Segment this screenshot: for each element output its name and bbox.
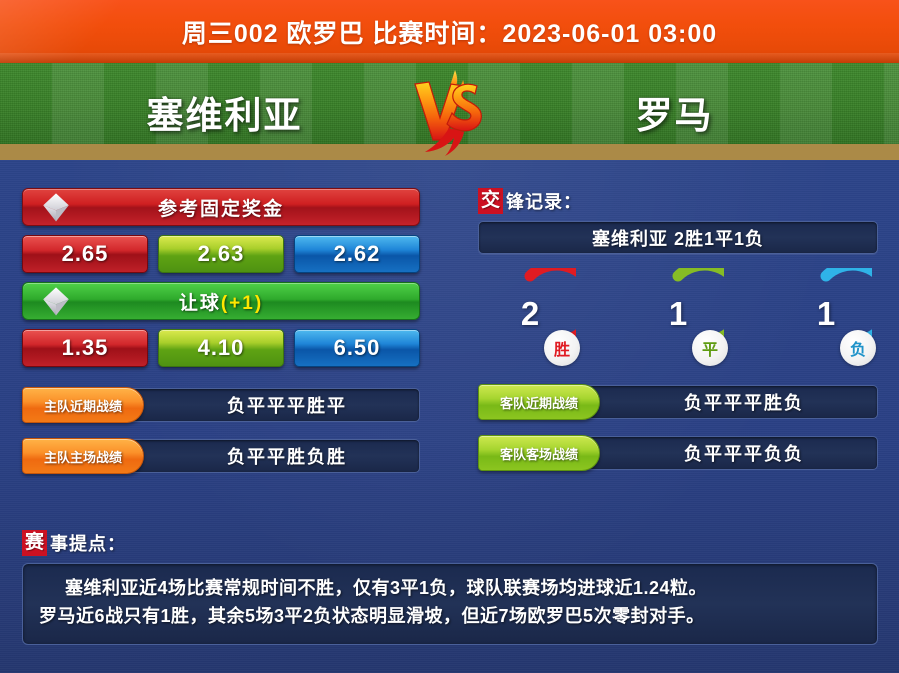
h2h-ring-win-badge: 胜 <box>544 330 580 366</box>
h2h-ring-loss-badge: 负 <box>840 330 876 366</box>
home-recent-form-value: 负平平平胜平 <box>227 392 347 418</box>
away-form-group: 客队近期战绩 负平平平胜负 客队客场战绩 负平平平负负 <box>478 384 878 471</box>
home-recent-form-track: 负平平平胜平 <box>130 388 420 422</box>
handicap-title-accent: (+1) <box>221 293 263 314</box>
away-recent-form-tab: 客队近期战绩 <box>478 384 600 420</box>
h2h-summary-bar: 塞维利亚 2胜1平1负 <box>478 221 878 254</box>
away-recent-form-value: 负平平平胜负 <box>684 389 804 415</box>
away-away-form-track: 负平平平负负 <box>586 436 878 470</box>
home-team-name: 塞维利亚 <box>60 85 390 139</box>
away-recent-form-row: 客队近期战绩 负平平平胜负 <box>478 384 878 420</box>
tips-section: 赛 事提点： 塞维利亚近4场比赛常规时间不胜，仅有3平1负，球队联赛场均进球近1… <box>22 530 878 645</box>
diamond-gem-icon <box>39 284 73 318</box>
fixed-odds-row: 2.65 2.63 2.62 <box>22 235 420 273</box>
handicap-button-draw[interactable]: 4.10 <box>158 329 284 367</box>
tips-label-boxchar: 赛 <box>22 530 47 556</box>
h2h-panel: 交 锋记录： 塞维利亚 2胜1平1负 2 胜 1 <box>478 188 878 471</box>
away-away-form-tab: 客队客场战绩 <box>478 435 600 471</box>
h2h-summary-text: 塞维利亚 2胜1平1负 <box>592 225 764 251</box>
vs-flame-icon <box>407 66 493 158</box>
tips-label-rest: 事提点： <box>50 530 126 556</box>
fixed-odds-title-label: 参考固定奖金 <box>158 194 284 221</box>
away-away-form-value: 负平平平负负 <box>684 440 804 466</box>
fixed-odds-title-bar: 参考固定奖金 <box>22 188 420 226</box>
away-recent-form-track: 负平平平胜负 <box>586 385 878 419</box>
match-preview-page: 周三002 欧罗巴 比赛时间：2023-06-01 03:00 塞维利亚 <box>0 0 899 673</box>
home-recent-form-row: 主队近期战绩 负平平平胜平 <box>22 387 420 423</box>
h2h-label-rest: 锋记录： <box>506 188 582 214</box>
tips-line-1: 塞维利亚近4场比赛常规时间不胜，仅有3平1负，球队联赛场均进球近1.24粒。 <box>39 575 861 603</box>
home-form-group: 主队近期战绩 负平平平胜平 主队主场战绩 负平平胜负胜 <box>22 387 420 474</box>
h2h-ring-loss: 1 负 <box>780 268 872 360</box>
h2h-label: 交 锋记录： <box>478 188 878 214</box>
odds-button-draw[interactable]: 2.63 <box>158 235 284 273</box>
odds-panel: 参考固定奖金 2.65 2.63 2.62 让球(+1) 1.35 4.10 6… <box>22 188 420 474</box>
away-team-name: 罗马 <box>510 85 840 139</box>
tips-line-2: 罗马近6战只有1胜，其余5场3平2负状态明显滑坡，但近7场欧罗巴5次零封对手。 <box>39 603 861 631</box>
home-home-form-tab: 主队主场战绩 <box>22 438 144 474</box>
handicap-title-label: 让球(+1) <box>179 288 263 315</box>
tips-label: 赛 事提点： <box>22 530 878 556</box>
home-home-form-value: 负平平胜负胜 <box>227 443 347 469</box>
handicap-odds-row: 1.35 4.10 6.50 <box>22 329 420 367</box>
tips-box: 塞维利亚近4场比赛常规时间不胜，仅有3平1负，球队联赛场均进球近1.24粒。 罗… <box>22 563 878 645</box>
h2h-ring-draw: 1 平 <box>632 268 724 360</box>
odds-button-home[interactable]: 2.65 <box>22 235 148 273</box>
handicap-title-text: 让球 <box>179 293 221 314</box>
away-away-form-row: 客队客场战绩 负平平平负负 <box>478 435 878 471</box>
h2h-ring-win: 2 胜 <box>484 268 576 360</box>
handicap-button-away[interactable]: 6.50 <box>294 329 420 367</box>
vs-wrap <box>390 66 510 158</box>
h2h-rings: 2 胜 1 平 1 负 <box>478 268 878 360</box>
header-bar: 周三002 欧罗巴 比赛时间：2023-06-01 03:00 <box>0 0 899 63</box>
home-home-form-track: 负平平胜负胜 <box>130 439 420 473</box>
home-recent-form-tab: 主队近期战绩 <box>22 387 144 423</box>
page-title: 周三002 欧罗巴 比赛时间：2023-06-01 03:00 <box>182 14 717 50</box>
h2h-ring-draw-badge: 平 <box>692 330 728 366</box>
body-area: 参考固定奖金 2.65 2.63 2.62 让球(+1) 1.35 4.10 6… <box>0 160 899 673</box>
handicap-title-bar: 让球(+1) <box>22 282 420 320</box>
diamond-gem-icon <box>39 190 73 224</box>
teams-row: 塞维利亚 <box>0 63 899 160</box>
handicap-button-home[interactable]: 1.35 <box>22 329 148 367</box>
odds-button-away[interactable]: 2.62 <box>294 235 420 273</box>
home-home-form-row: 主队主场战绩 负平平胜负胜 <box>22 438 420 474</box>
h2h-label-boxchar: 交 <box>478 188 503 214</box>
pitch-banner: 塞维利亚 <box>0 63 899 160</box>
